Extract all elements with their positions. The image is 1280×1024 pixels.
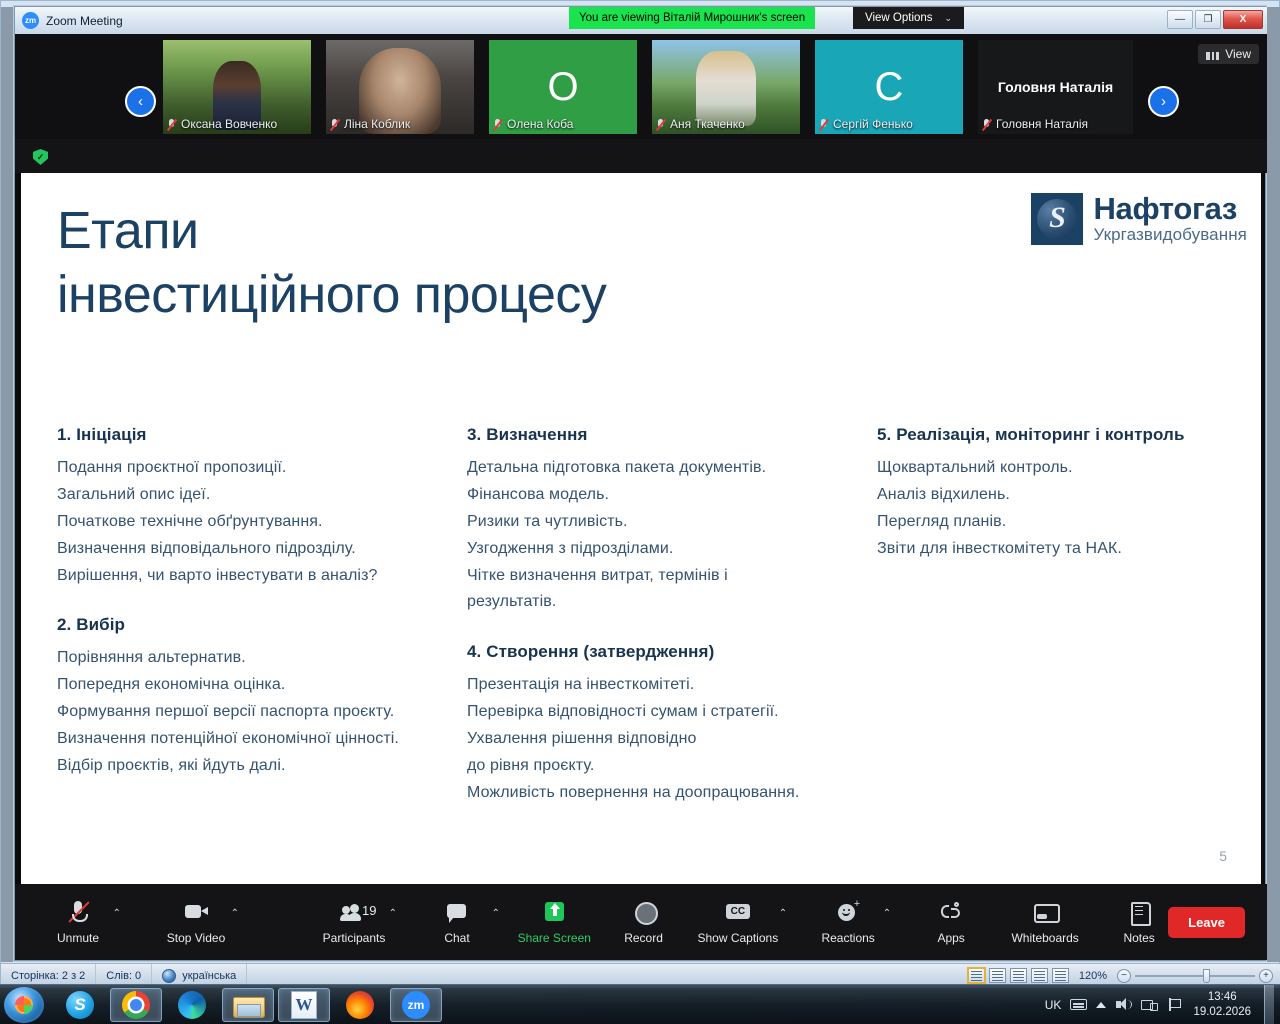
naftogaz-logo-text: Нафтогаз Укргазвидобування (1093, 193, 1247, 244)
share-screen-button[interactable]: Share Screen (524, 891, 585, 953)
grid-view-icon (1206, 49, 1219, 60)
taskbar-item-skype[interactable]: S (54, 988, 106, 1022)
reactions-caret-icon[interactable]: ⌃ (883, 908, 891, 919)
slide-title-line-2: інвестиційного процесу (57, 263, 937, 327)
stop-video-button[interactable]: Stop Video ⌃ (167, 891, 225, 953)
word-icon: W (291, 991, 317, 1019)
firefox-icon (346, 991, 374, 1019)
participant-tile[interactable]: Аня Ткаченко (652, 40, 800, 134)
microphone-muted-icon (64, 900, 92, 924)
participant-name: Сергій Фенько (833, 117, 913, 131)
zoom-icon: zm (402, 991, 430, 1019)
word-view-controls: 120% − + (968, 968, 1280, 983)
screen: Сторінка: 2 з 2 Слів: 0 українська 120% … (0, 0, 1280, 1024)
show-captions-button[interactable]: Show Captions ⌃ (705, 891, 772, 953)
action-center-flag-icon[interactable] (1167, 997, 1184, 1012)
chevron-left-icon: ‹ (138, 94, 143, 109)
participant-tile[interactable]: О Олена Коба (489, 40, 637, 134)
shield-check: ✓ (37, 152, 45, 163)
mic-muted-icon (492, 118, 503, 131)
word-page-text: Сторінка: 2 з 2 (11, 970, 85, 982)
print-layout-view-icon[interactable] (968, 968, 985, 983)
block-line: Початкове технічне обґрунтування. (57, 509, 457, 536)
show-hidden-icons-icon[interactable] (1096, 1002, 1106, 1008)
block-line: Детальна підготовка пакета документів. (467, 455, 867, 482)
apps-icon (937, 900, 965, 924)
screen-share-banner-text: You are viewing Віталій Мирошник's scree… (579, 12, 805, 24)
zoom-slider-thumb[interactable] (1203, 969, 1210, 983)
block-line: Можливість повернення на доопрацювання. (467, 780, 867, 807)
record-button[interactable]: Record (615, 891, 673, 953)
reactions-smiley-icon: + (834, 900, 862, 924)
filmstrip-next-button[interactable]: › (1148, 86, 1179, 117)
whiteboards-label: Whiteboards (1011, 931, 1078, 945)
participant-name-badge: Сергій Фенько (815, 116, 919, 132)
mic-muted-icon (981, 118, 992, 131)
whiteboard-icon (1031, 900, 1059, 924)
taskbar-item-explorer[interactable] (222, 988, 274, 1022)
system-tray: UK 13:46 19.02.2026 (1045, 985, 1280, 1024)
window-controls: — ❐ X (1167, 10, 1263, 29)
encryption-shield-icon[interactable]: ✓ (33, 149, 48, 165)
participant-name-badge: Олена Коба (489, 116, 579, 132)
slide-title: Етапи інвестиційного процесу (57, 199, 937, 328)
block-heading: 2. Вибір (57, 615, 457, 635)
participant-name: Ліна Коблик (344, 117, 410, 131)
block-line: Перевірка відповідності сумам і стратегі… (467, 699, 867, 726)
participant-name: Оксана Вовченко (181, 117, 277, 131)
close-button[interactable]: X (1223, 10, 1263, 29)
audio-options-caret-icon[interactable]: ⌃ (113, 908, 121, 919)
zoom-slider[interactable] (1135, 969, 1255, 983)
share-screen-label: Share Screen (518, 931, 591, 945)
filmstrip-prev-button[interactable]: ‹ (125, 86, 156, 117)
stop-video-label: Stop Video (167, 931, 226, 945)
video-options-caret-icon[interactable]: ⌃ (231, 908, 239, 919)
slide-block: 3. Визначення Детальна підготовка пакета… (467, 425, 867, 616)
word-words-text: Слів: 0 (106, 970, 141, 982)
language-indicator[interactable]: UK (1045, 998, 1062, 1012)
slide-block: 2. Вибір Порівняння альтернатив. Поперед… (57, 615, 457, 779)
chrome-icon (122, 991, 150, 1019)
naftogaz-logo-mark-icon (1031, 193, 1083, 245)
block-line: результатів. (467, 589, 867, 616)
chat-caret-icon[interactable]: ⌃ (492, 908, 500, 919)
participant-tile[interactable]: С Сергій Фенько (815, 40, 963, 134)
windows-taskbar: S W zm UK (0, 984, 1280, 1024)
notes-label: Notes (1123, 931, 1154, 945)
chevron-down-icon: ⌄ (945, 13, 953, 24)
slide-column-1: 1. Ініціація Подання проєктної пропозиці… (57, 425, 457, 806)
clock-date: 19.02.2026 (1193, 1005, 1251, 1019)
view-options-button[interactable]: View Options ⌄ (853, 7, 964, 29)
captions-caret-icon[interactable]: ⌃ (779, 908, 787, 919)
notes-icon (1125, 900, 1153, 924)
mic-muted-icon (329, 118, 340, 131)
participant-name-badge: Головня Наталія (978, 116, 1094, 132)
participants-label: Participants (323, 931, 386, 945)
taskbar-apps: S W zm (54, 988, 442, 1022)
block-heading: 3. Визначення (467, 425, 867, 445)
block-line: до рівня проєкту. (467, 753, 867, 780)
reactions-button[interactable]: + Reactions ⌃ (819, 891, 877, 953)
logo-company-name: Нафтогаз (1093, 193, 1247, 226)
notes-button[interactable]: Notes (1110, 891, 1168, 953)
block-line: Ризики та чутливість. (467, 509, 867, 536)
participant-name-badge: Оксана Вовченко (163, 116, 283, 132)
closed-captions-icon (724, 900, 752, 924)
view-options-label: View Options (865, 12, 933, 24)
taskbar-item-chrome[interactable] (110, 988, 162, 1022)
reactions-label: Reactions (821, 931, 874, 945)
word-language-text: українська (182, 970, 236, 982)
chevron-right-icon: › (1161, 94, 1166, 109)
participant-filmstrip: ‹ Оксана Вовченко Ліна Коблик О (15, 34, 1267, 139)
zoom-in-button[interactable]: + (1259, 969, 1273, 983)
speaker-icon[interactable] (1115, 997, 1132, 1012)
block-line: Визначення відповідального підрозділу. (57, 536, 457, 563)
block-line: Чітке визначення витрат, термінів і (467, 563, 867, 590)
block-line: Узгодження з підрозділами. (467, 536, 867, 563)
block-line: Формування першої версії паспорта проєкт… (57, 699, 457, 726)
block-line: Відбір проєктів, які йдуть далі. (57, 753, 457, 780)
participant-name: Аня Ткаченко (670, 117, 745, 131)
whiteboards-button[interactable]: Whiteboards (1016, 891, 1074, 953)
taskbar-item-edge[interactable] (166, 988, 218, 1022)
slide-block: 4. Створення (затвердження) Презентація … (467, 642, 867, 806)
clock[interactable]: 13:46 19.02.2026 (1193, 990, 1251, 1019)
screen-share-banner: You are viewing Віталій Мирошник's scree… (569, 7, 815, 29)
participant-tile[interactable]: Головня Наталія Головня Наталія (978, 40, 1133, 134)
clock-time: 13:46 (1193, 990, 1251, 1004)
edge-icon (178, 991, 206, 1019)
zoom-meeting-window: zm Zoom Meeting — ❐ X You are viewing Ві… (14, 6, 1266, 961)
naftogaz-logo: Нафтогаз Укргазвидобування (1031, 193, 1247, 245)
record-label: Record (624, 931, 663, 945)
window-title: Zoom Meeting (46, 14, 123, 28)
video-camera-icon (182, 900, 210, 924)
network-icon[interactable] (1141, 997, 1158, 1012)
participant-name-badge: Аня Ткаченко (652, 116, 751, 132)
slide-block: 5. Реалізація, моніторинг і контроль Щок… (877, 425, 1261, 563)
folder-icon (233, 993, 263, 1017)
slide-block: 1. Ініціація Подання проєктної пропозиці… (57, 425, 457, 589)
view-layout-button[interactable]: View (1198, 44, 1259, 64)
block-line: Попередня економічна оцінка. (57, 672, 457, 699)
zoom-logo-icon: zm (22, 12, 39, 29)
block-line: Перегляд планів. (877, 509, 1261, 536)
block-line: Загальний опис ідеї. (57, 482, 457, 509)
chat-bubble-icon (443, 900, 471, 924)
chat-button[interactable]: Chat ⌃ (428, 891, 486, 953)
zoom-toolbar: Unmute ⌃ Stop Video ⌃ 19 Participants ⌃ … (15, 884, 1267, 960)
block-line: Звіти для інвесткомітету та НАК. (877, 536, 1261, 563)
participant-name-badge: Ліна Коблик (326, 116, 416, 132)
view-button-label: View (1225, 47, 1251, 61)
mic-muted-icon (655, 118, 666, 131)
share-screen-icon (540, 900, 568, 924)
chat-label: Chat (444, 931, 469, 945)
participant-tile[interactable]: Оксана Вовченко (163, 40, 311, 134)
participants-count: 19 (362, 903, 376, 918)
block-line: Аналіз відхилень. (877, 482, 1261, 509)
block-line: Фінансова модель. (467, 482, 867, 509)
record-icon (630, 900, 658, 924)
taskbar-item-word[interactable]: W (278, 988, 330, 1022)
taskbar-item-firefox[interactable] (334, 988, 386, 1022)
full-screen-reading-view-icon[interactable] (989, 968, 1006, 983)
taskbar-item-zoom[interactable]: zm (390, 988, 442, 1022)
slide-column-3: 5. Реалізація, моніторинг і контроль Щок… (877, 425, 1261, 589)
logo-division-name: Укргазвидобування (1093, 226, 1247, 245)
zoom-out-button[interactable]: − (1117, 969, 1131, 983)
show-desktop-button[interactable] (1264, 985, 1274, 1024)
unmute-button[interactable]: Unmute ⌃ (49, 891, 107, 953)
leave-button[interactable]: Leave (1168, 907, 1245, 938)
block-line: Визначення потенційної економічної цінно… (57, 726, 457, 753)
mic-muted-icon (818, 118, 829, 131)
start-button[interactable] (4, 987, 44, 1023)
meeting-security-band: ✓ (15, 139, 1267, 173)
web-layout-view-icon[interactable] (1010, 968, 1027, 983)
apps-button[interactable]: Apps (922, 891, 980, 953)
word-zoom-level[interactable]: 120% (1079, 970, 1107, 982)
unmute-label: Unmute (57, 931, 99, 945)
slide-column-2: 3. Визначення Детальна підготовка пакета… (467, 425, 867, 833)
logo-sphere-icon (1037, 199, 1077, 239)
block-line: Вирішення, чи варто інвестувати в аналіз… (57, 563, 457, 590)
shared-screen-slide: Етапи інвестиційного процесу Нафтогаз Ук… (21, 173, 1261, 886)
block-line: Порівняння альтернатив. (57, 645, 457, 672)
show-captions-label: Show Captions (697, 931, 778, 945)
participant-name: Олена Коба (507, 117, 573, 131)
mic-muted-icon (166, 118, 177, 131)
outline-view-icon[interactable] (1031, 968, 1048, 983)
block-line: Ухвалення рішення відповідно (467, 726, 867, 753)
participants-caret-icon[interactable]: ⌃ (389, 908, 397, 919)
skype-icon: S (66, 991, 94, 1019)
block-heading: 5. Реалізація, моніторинг і контроль (877, 425, 1261, 445)
block-heading: 4. Створення (затвердження) (467, 642, 867, 662)
participants-icon: 19 (340, 900, 368, 924)
maximize-button[interactable]: ❐ (1195, 10, 1221, 29)
keyboard-icon[interactable] (1070, 997, 1087, 1012)
minimize-button[interactable]: — (1167, 10, 1193, 29)
windows-logo-icon (15, 996, 33, 1014)
participants-button[interactable]: 19 Participants ⌃ (325, 891, 383, 953)
slide-page-number: 5 (1219, 848, 1227, 864)
participant-name: Головня Наталія (996, 117, 1088, 131)
participant-tile[interactable]: Ліна Коблик (326, 40, 474, 134)
block-line: Подання проєктної пропозиції. (57, 455, 457, 482)
draft-view-icon[interactable] (1052, 968, 1069, 983)
apps-label: Apps (937, 931, 964, 945)
block-line: Щоквартальний контроль. (877, 455, 1261, 482)
globe-icon (162, 969, 176, 983)
block-line: Презентація на інвесткомітеті. (467, 672, 867, 699)
slide-title-line-1: Етапи (57, 199, 937, 263)
block-heading: 1. Ініціація (57, 425, 457, 445)
